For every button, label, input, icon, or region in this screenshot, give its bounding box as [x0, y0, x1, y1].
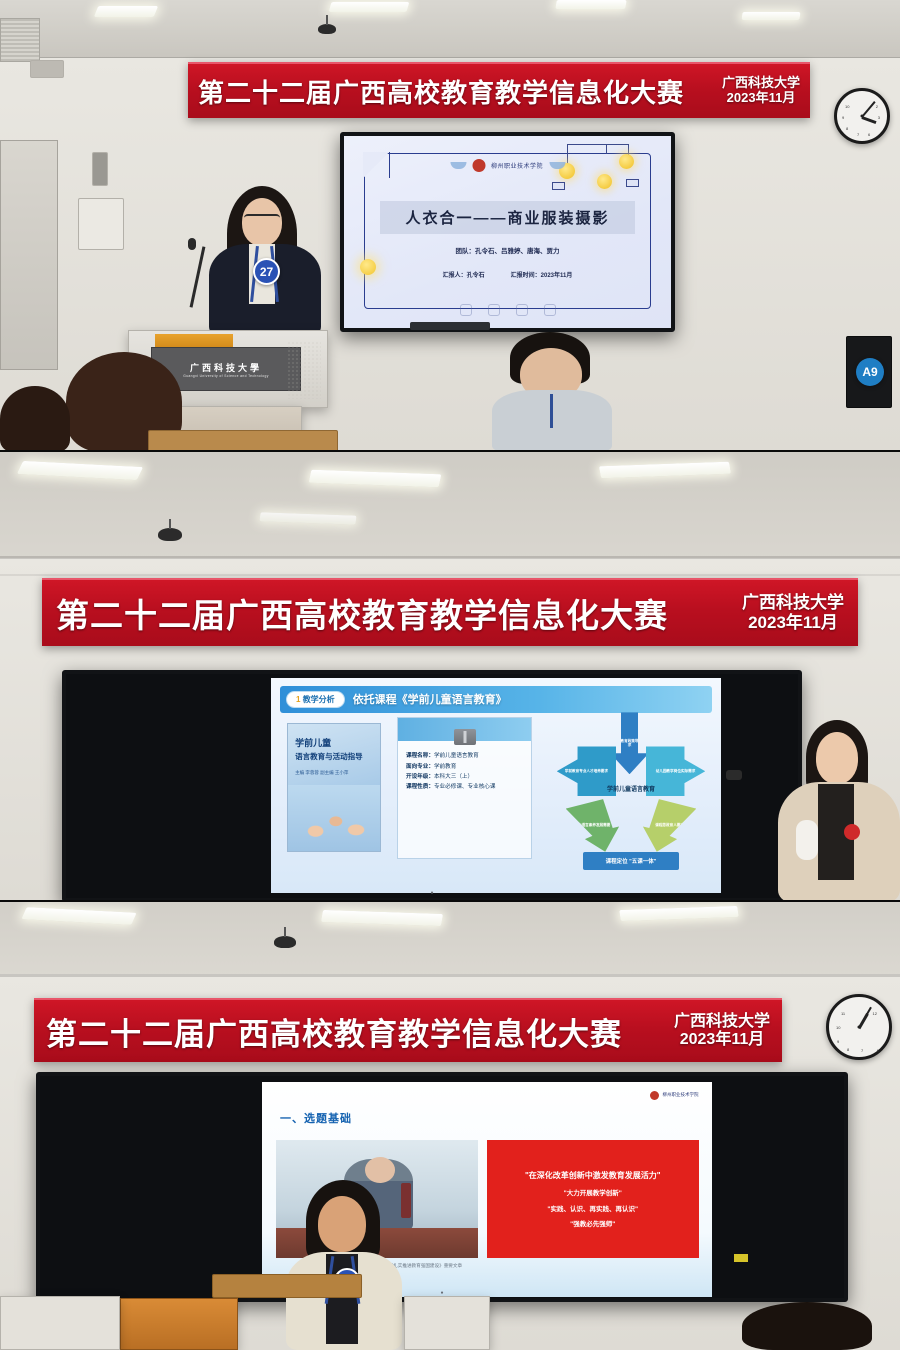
banner-organizer: 广西科技大学 2023年11月	[674, 1013, 770, 1050]
ceiling-light	[555, 0, 627, 9]
wall-clock: 11 10 9 8 7 6 12	[826, 994, 892, 1060]
face	[242, 198, 282, 246]
panel-top: 10 9 8 7 6 3 2 第二十二届广西高校教育教学信息化大赛 广西科技大学…	[0, 0, 900, 452]
lanyard	[550, 394, 553, 428]
slide-report-time: 汇报时间：2023年11月	[511, 270, 573, 279]
diagram-center-label: 学前儿童语言教育	[601, 771, 660, 811]
decor-swoosh	[549, 162, 565, 169]
banner-title: 第二十二届广西高校教育教学信息化大赛	[56, 589, 742, 637]
cabinet	[0, 1296, 120, 1350]
ceiling-light	[329, 2, 410, 12]
ceiling-light	[94, 6, 158, 17]
info-row: 课程性质：专业必修课、专业核心课	[406, 782, 524, 792]
face	[318, 1196, 366, 1252]
institution-logo-mark	[472, 159, 485, 172]
paper-clip-icon	[454, 729, 476, 745]
textbook-cover: 学前儿童 语言教育与活动指导 主编 李蓉蓉 副主编 王小萍	[287, 723, 382, 852]
info-row: 开设年级：本科大三（上）	[406, 772, 524, 782]
slide-logo: 柳州职业技术学院	[650, 1091, 699, 1100]
banner-organizer: 广西科技大学 2023年11月	[722, 76, 800, 106]
photo-collage: 10 9 8 7 6 3 2 第二十二届广西高校教育教学信息化大赛 广西科技大学…	[0, 0, 900, 1350]
wall-fixture	[92, 152, 108, 186]
presenter-panel3: 7	[284, 1180, 402, 1350]
screen-indicator	[734, 1254, 748, 1262]
figure-head	[365, 1157, 395, 1183]
presentation-screen-2: 1 教学分析 依托课程《学前儿童语言教育》 学前儿童 语言教育与活动指导 主编 …	[62, 670, 802, 902]
book-cover-photo	[288, 785, 381, 851]
event-banner: 第二十二届广西高校教育教学信息化大赛 广西科技大学 2023年11月	[188, 62, 810, 118]
book-subtitle: 语言教育与活动指导	[295, 752, 363, 762]
camera-icon	[158, 528, 182, 541]
book-title: 学前儿童	[295, 737, 331, 749]
panel-bottom: 11 10 9 8 7 6 12 第二十二届广西高校教育教学信息化大赛 广西科技…	[0, 902, 900, 1350]
info-row: 课程名称：学前儿童语言教育	[406, 751, 524, 761]
quote-line-3: "实践、认识、再实践、再认识"	[547, 1203, 638, 1213]
quote-box: "在深化改革创新中激发教育发展活力" "大力开展教学创新" "实践、认识、再实践…	[487, 1140, 699, 1258]
audience-member	[742, 1302, 872, 1350]
slide-heading: 一、选题基础	[280, 1110, 352, 1126]
flower-badge	[844, 824, 860, 840]
lectern-speaker-grille	[287, 341, 321, 399]
air-vent	[0, 18, 40, 62]
audience-member	[0, 386, 70, 452]
cabinet	[404, 1296, 490, 1350]
banner-title: 第二十二届广西高校教育教学信息化大赛	[46, 1009, 674, 1054]
university-name-en: Guangxi University of Science and Techno…	[183, 374, 269, 378]
institution-logo-mark	[650, 1091, 659, 1100]
lectern	[120, 1298, 238, 1350]
slide-headline: 依托课程《学前儿童语言教育》	[353, 691, 507, 707]
section-index: 1	[296, 695, 300, 704]
quote-line-1: "在深化改革创新中激发教育发展活力"	[525, 1170, 661, 1181]
slide-decor-lamps	[550, 144, 658, 209]
course-positioning-diagram: 国家教育政策导向要求 学前教育专业人才培养要求 幼儿园教学岗位实际需求 学生语言…	[557, 712, 706, 867]
desk	[212, 1274, 362, 1298]
wall-clock: 10 9 8 7 6 3 2	[834, 88, 890, 144]
wall-seam	[0, 574, 900, 576]
camera-icon	[274, 936, 296, 948]
presenter-panel1: 27	[205, 186, 325, 336]
slide-logo-text: 柳州职业技术学院	[663, 1092, 699, 1098]
microphone-icon	[796, 820, 818, 860]
section-label: 教学分析	[303, 695, 335, 704]
book-byline: 主编 李蓉蓉 副主编 王小萍	[295, 770, 348, 776]
slide-title-bar: 人衣合一——商业服装摄影	[380, 201, 635, 234]
screen-stand	[410, 322, 490, 330]
slide-team: 团队：孔令石、吕雅婷、唐海、贾力	[344, 245, 671, 255]
ceiling-seam	[0, 556, 900, 559]
audience-member	[492, 332, 612, 452]
presenter-clicker	[726, 770, 742, 780]
banner-organizer: 广西科技大学 2023年11月	[742, 593, 844, 632]
camera-icon	[318, 24, 336, 34]
banner-title: 第二十二届广西高校教育教学信息化大赛	[198, 73, 722, 110]
presentation-screen-1: 柳州职业技术学院 人衣合一——商业服装摄影 团队：孔令石、吕雅婷、唐海、贾力 汇…	[340, 132, 675, 332]
figure-microphone	[401, 1183, 411, 1218]
slide-decor-dots	[344, 304, 671, 316]
wall-speaker	[30, 60, 64, 78]
event-banner: 第二十二届广西高校教育教学信息化大赛 广西科技大学 2023年11月	[42, 578, 858, 646]
quote-line-2: "大力开展教学创新"	[564, 1187, 622, 1197]
hair	[742, 1302, 872, 1350]
ceiling-light	[741, 12, 800, 20]
decor-swoosh	[450, 162, 466, 169]
slide-presenter: 汇报人：孔令石	[443, 270, 485, 279]
glasses-icon	[244, 214, 280, 222]
slide-meta: 汇报人：孔令石 汇报时间：2023年11月	[390, 270, 625, 279]
desk	[148, 430, 338, 452]
slide-logo-text: 柳州职业技术学院	[491, 161, 543, 170]
slide-title: 人衣合一——商业服装摄影	[405, 207, 609, 228]
presenter-badge-panel1: 27	[253, 258, 280, 285]
microphone-icon	[188, 238, 196, 250]
slide-1: 柳州职业技术学院 人衣合一——商业服装摄影 团队：孔令石、吕雅婷、唐海、贾力 汇…	[344, 136, 671, 328]
ceiling-seam	[0, 974, 900, 977]
diagram-footer-label: 课程定位 "五课一体"	[583, 852, 678, 871]
quote-line-4: "强教必先强师"	[570, 1218, 615, 1228]
presentation-screen-3: 柳州职业技术学院 一、选题基础 "在深化改革创新中激发教育发展活力" "大力开展…	[36, 1072, 848, 1302]
event-banner: 第二十二届广西高校教育教学信息化大赛 广西科技大学 2023年11月	[34, 998, 782, 1062]
course-info-card: 课程名称：学前儿童语言教育 面向专业：学前教育 开设年级：本科大三（上） 课程性…	[397, 717, 532, 859]
presenter-panel2	[770, 720, 900, 902]
slide-logo: 柳州职业技术学院	[450, 159, 565, 172]
door	[0, 140, 58, 370]
slide-section-header: 1 教学分析 依托课程《学前儿童语言教育》	[280, 686, 712, 714]
hair	[0, 386, 70, 452]
section-pill: 1 教学分析	[286, 691, 345, 708]
info-row: 面向专业：学前教育	[406, 762, 524, 772]
panel-middle: 第二十二届广西高校教育教学信息化大赛 广西科技大学 2023年11月 1 教学分…	[0, 452, 900, 902]
screen-brand: ●	[430, 890, 433, 896]
university-name-cn: 广西科技大學	[190, 361, 262, 374]
course-info-rows: 课程名称：学前儿童语言教育 面向专业：学前教育 开设年级：本科大三（上） 课程性…	[406, 751, 524, 792]
wall-panel	[78, 198, 124, 250]
face	[816, 732, 858, 784]
slide-2: 1 教学分析 依托课程《学前儿童语言教育》 学前儿童 语言教育与活动指导 主编 …	[271, 678, 721, 893]
room-number-sign-label: A9	[856, 358, 884, 386]
